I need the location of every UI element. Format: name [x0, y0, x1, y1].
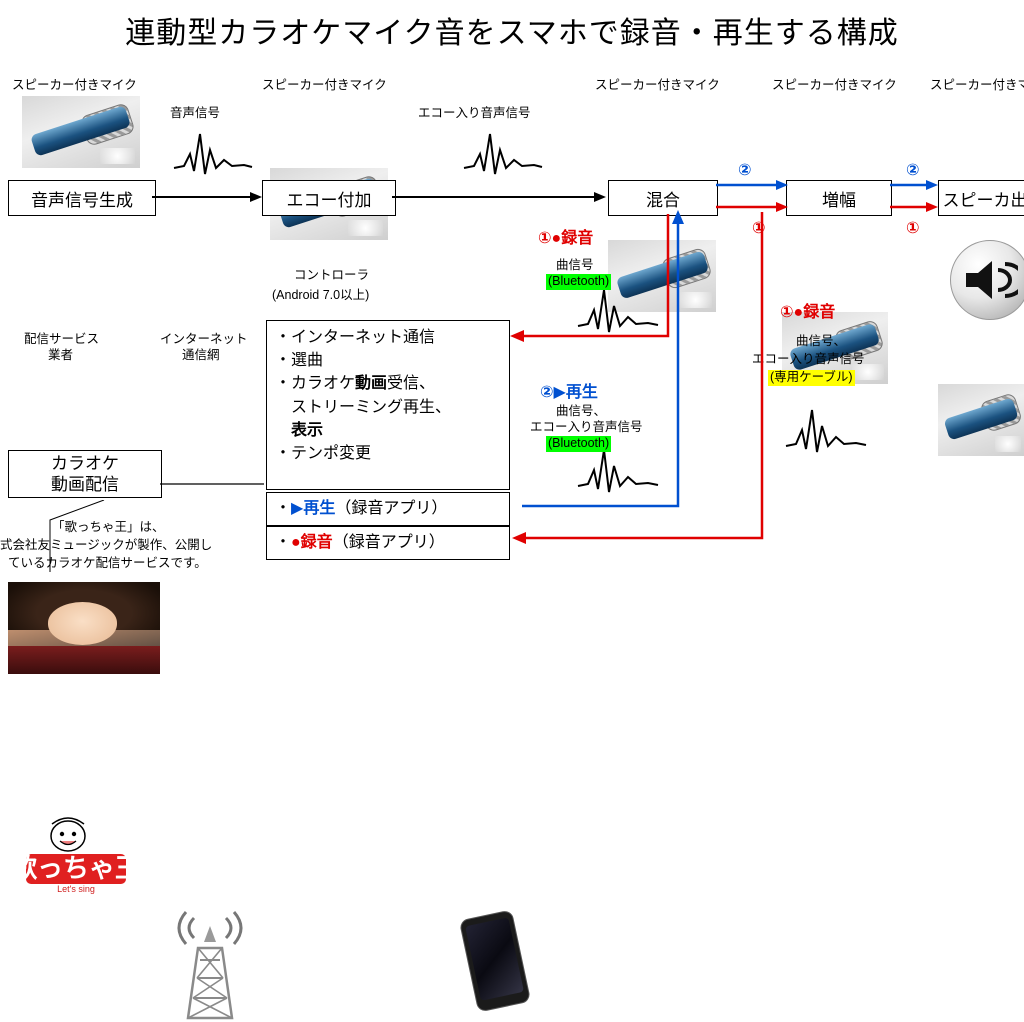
microphone-image-5 — [938, 384, 1024, 456]
controller-function-list: ・インターネット通信 ・選曲 ・カラオケ動画受信、 ストリーミング再生、 表示 … — [266, 320, 510, 490]
waveform-icon-voice — [172, 124, 254, 178]
utacha-oh-logo: 歌っちゃ王 Let's sing — [22, 814, 132, 900]
app-row-play-suffix: （録音アプリ） — [335, 497, 447, 520]
smartphone-image — [459, 909, 531, 1012]
cable-line3: (専用ケーブル) — [768, 370, 855, 386]
record-label-right: ①●録音 — [780, 298, 835, 322]
service-caption-line1: 配信サービス — [24, 332, 99, 348]
app-row-play: ・ ▶再生 （録音アプリ） — [266, 492, 510, 526]
app-row-record: ・ ●録音 （録音アプリ） — [266, 526, 510, 560]
karaoke-delivery-line2: 動画配信 — [51, 474, 119, 495]
controller-item-2: ・選曲 — [275, 349, 501, 372]
svg-text:Let's sing: Let's sing — [57, 884, 95, 894]
footnote-callout-line — [44, 500, 174, 574]
arrow-amplify-to-speaker-red — [888, 198, 942, 216]
app-row-play-prefix: ・ — [275, 497, 291, 520]
mic-caption-1: スピーカー付きマイク — [12, 74, 137, 93]
mic-caption-5: スピーカー付きマ — [930, 74, 1024, 93]
flow-box-echo: エコー付加 — [262, 180, 396, 216]
marker-two-top-1: ② — [738, 160, 752, 180]
arrow-voicegen-to-echo — [150, 186, 268, 208]
mic-caption-2: スピーカー付きマイク — [262, 74, 387, 93]
controller-item-6: ・テンポ変更 — [275, 442, 501, 465]
waveform-icon-echo — [462, 124, 544, 178]
karaoke-delivery-line1: カラオケ — [51, 453, 119, 474]
microphone-image-1 — [22, 96, 140, 168]
label-voice-signal: 音声信号 — [170, 106, 220, 122]
service-caption-line2: 業者 — [48, 348, 73, 364]
network-label-line2: 通信網 — [182, 348, 220, 364]
app-row-record-prefix: ・ — [275, 531, 291, 554]
svg-text:歌っちゃ王: 歌っちゃ王 — [22, 854, 132, 884]
controller-item-5: 表示 — [275, 419, 501, 442]
cable-line1: 曲信号、 — [796, 334, 846, 350]
speaker-icon — [950, 240, 1024, 320]
flow-box-speaker-out: スピーカ出 — [938, 180, 1024, 216]
app-row-play-marker: ▶再生 — [291, 497, 335, 520]
arrow-mix-to-amplify-blue — [714, 176, 792, 194]
page-title: 連動型カラオケマイク音をスマホで録音・再生する構成 — [0, 8, 1024, 52]
mic-caption-3: スピーカー付きマイク — [595, 74, 720, 93]
controller-item-1: ・インターネット通信 — [275, 326, 501, 349]
label-echo-voice-signal: エコー入り音声信号 — [418, 106, 531, 122]
marker-one-mid-2: ① — [906, 218, 920, 238]
network-tower-icon — [170, 904, 250, 1022]
singer-photo — [8, 582, 160, 674]
controller-title: コントローラ — [294, 268, 369, 284]
line-network-to-controller — [160, 470, 272, 500]
controller-subtitle: (Android 7.0以上) — [272, 288, 369, 304]
waveform-icon-cable — [784, 400, 868, 456]
controller-item-3: ・カラオケ動画受信、 — [275, 372, 501, 395]
marker-two-top-2: ② — [906, 160, 920, 180]
flow-box-karaoke-delivery: カラオケ 動画配信 — [8, 450, 162, 498]
controller-item-4: ストリーミング再生、 — [275, 396, 501, 419]
network-label-line1: インターネット — [160, 332, 248, 348]
app-row-record-suffix: （録音アプリ） — [333, 531, 445, 554]
mic-caption-4: スピーカー付きマイク — [772, 74, 897, 93]
flow-box-amplify: 増幅 — [786, 180, 892, 216]
red-path-amplify-to-record-app — [500, 206, 780, 546]
app-row-record-marker: ●録音 — [291, 531, 333, 554]
flow-box-voice-gen: 音声信号生成 — [8, 180, 156, 216]
